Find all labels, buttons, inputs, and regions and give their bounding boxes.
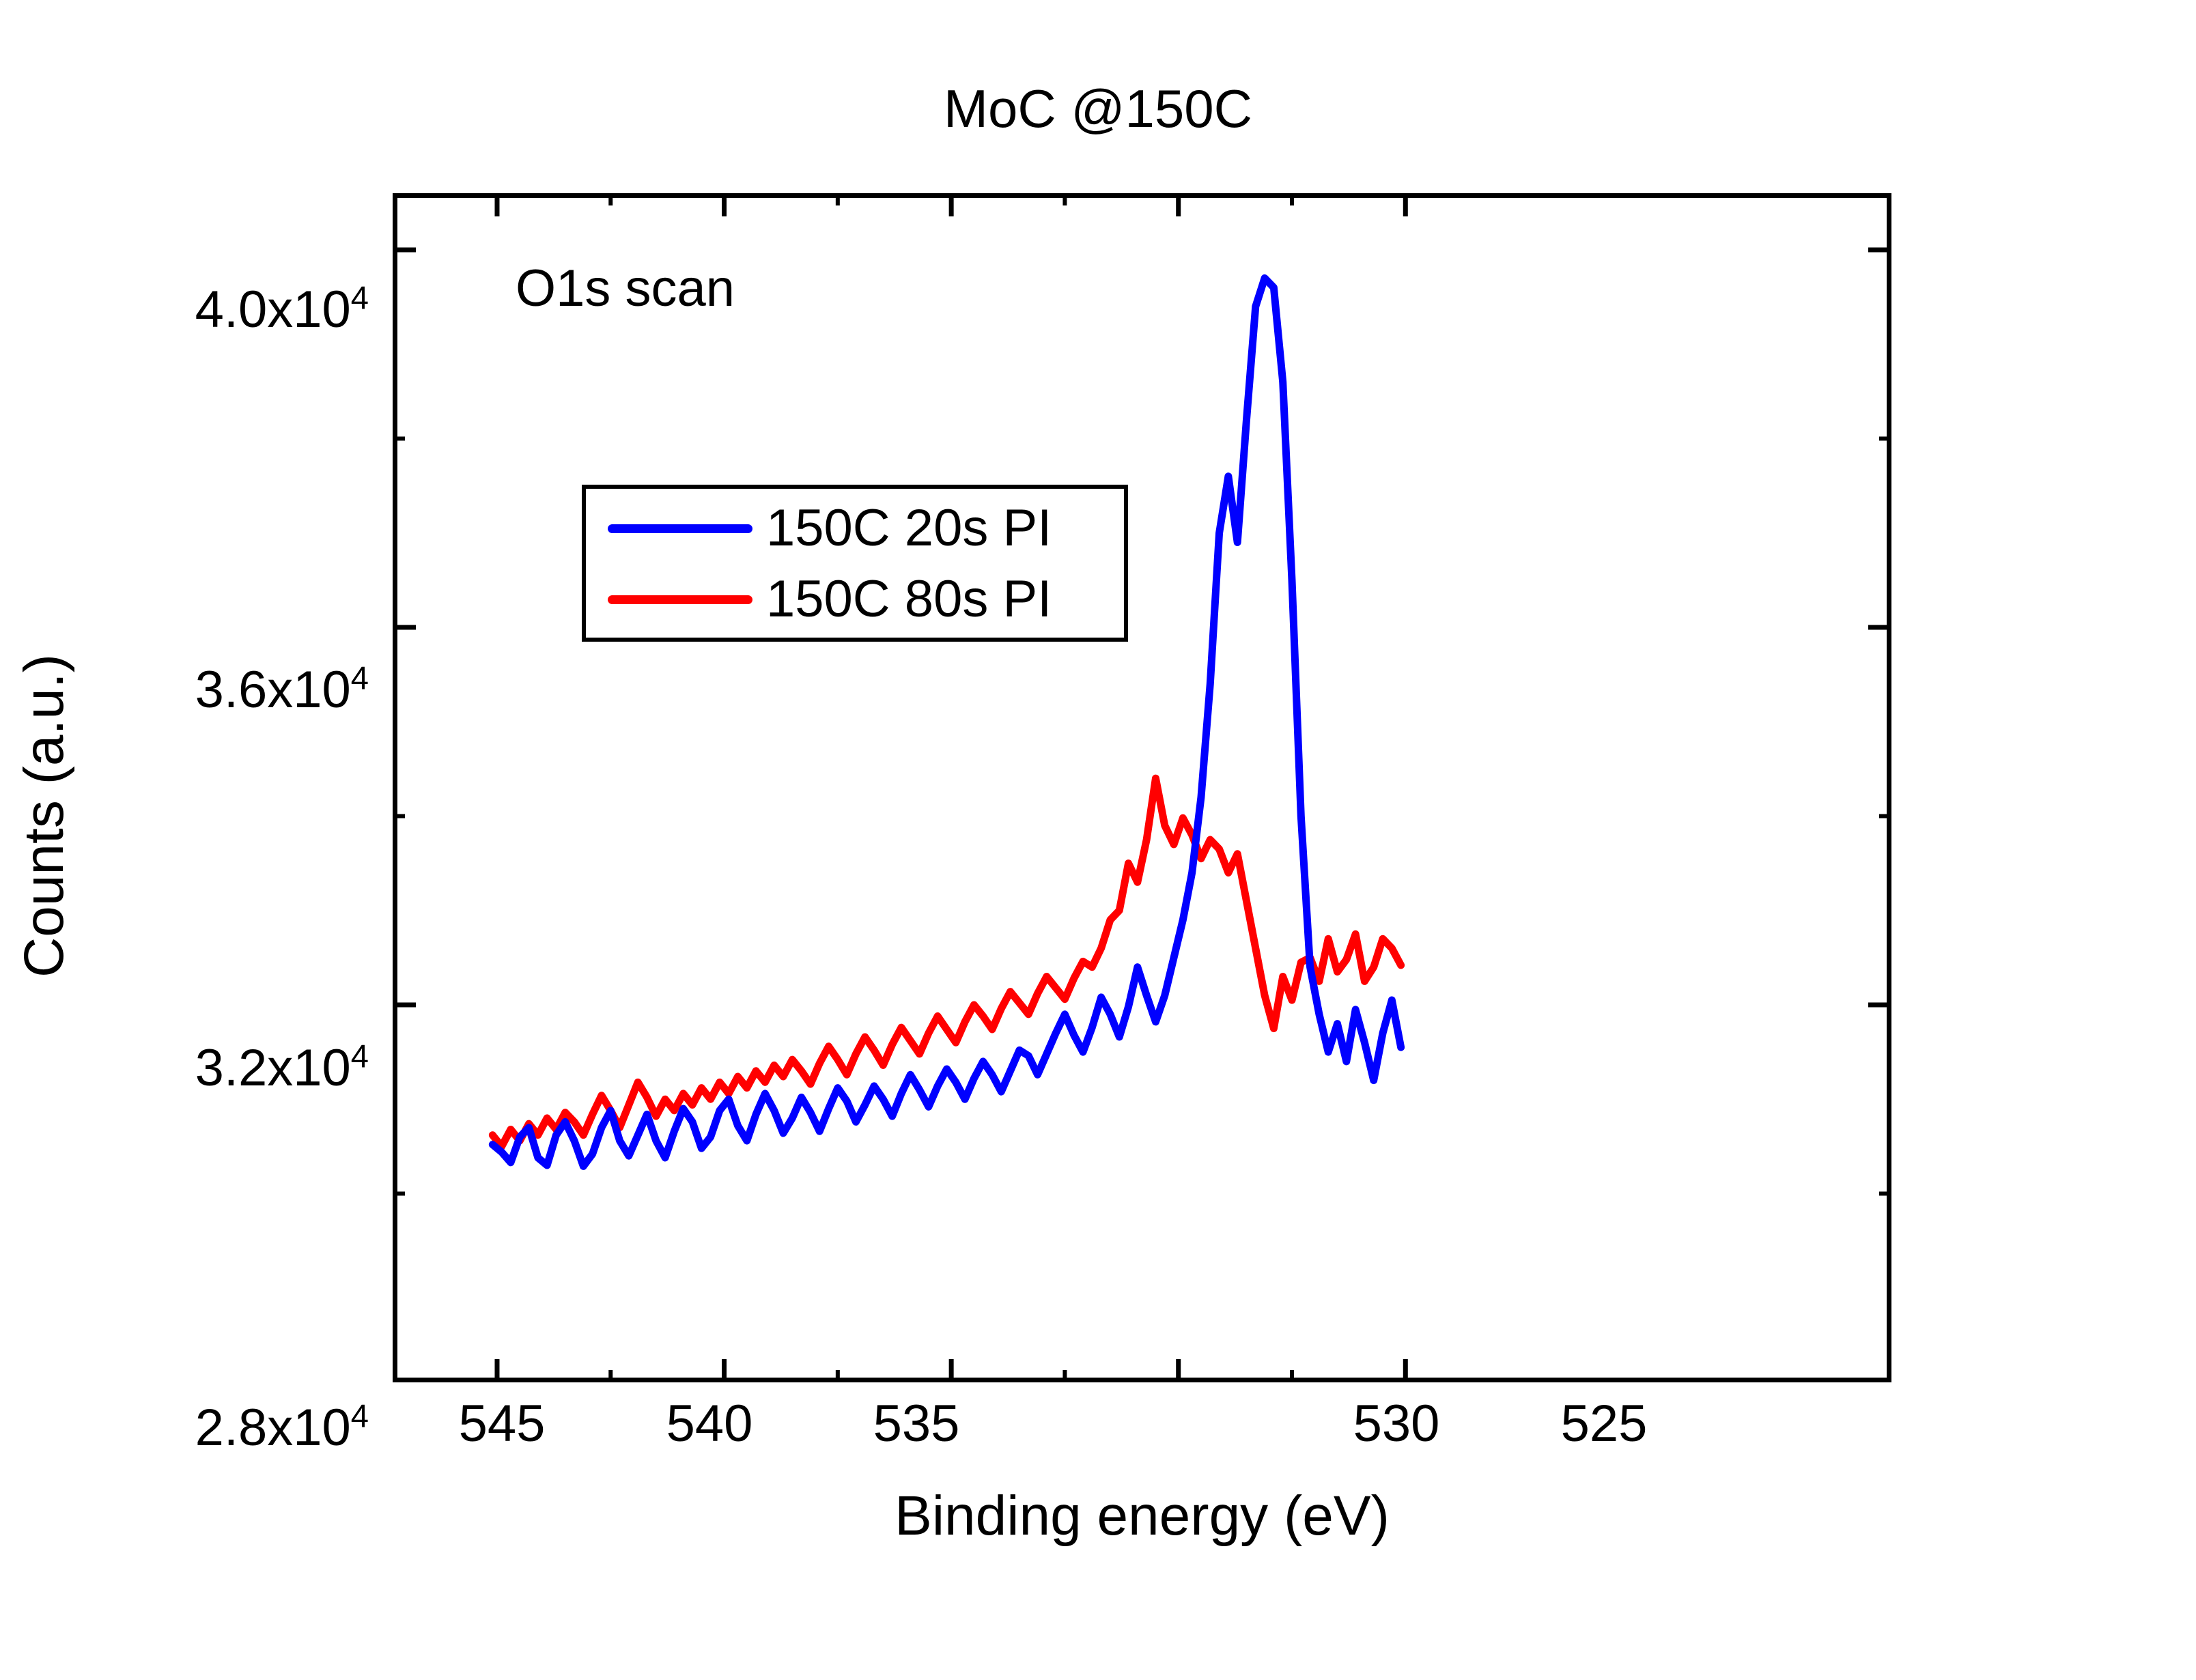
x-axis-tick-label: 540 [607, 1398, 812, 1450]
legend-label: 150C 80s PI [766, 573, 1052, 625]
y-axis-tick-label: 2.8x104 [0, 1350, 369, 1506]
chart-title: MoC @150C [0, 82, 2196, 135]
y-axis-label: Counts (a.u.) [16, 509, 72, 1123]
y-tick-exponent: 4 [351, 660, 369, 696]
y-tick-exponent: 4 [351, 1038, 369, 1074]
legend-swatch-blue [608, 524, 752, 533]
series-line-150c-80s-pi [492, 778, 1400, 1146]
y-tick-mantissa: 3.2x10 [195, 1039, 351, 1097]
x-axis-tick-label: 525 [1502, 1398, 1706, 1450]
x-axis-label: Binding energy (eV) [393, 1488, 1891, 1544]
y-axis-tick-label: 4.0x104 [0, 232, 369, 388]
y-tick-exponent: 4 [351, 1398, 369, 1434]
legend-swatch-red [608, 595, 752, 604]
x-axis-tick-label: 530 [1294, 1398, 1499, 1450]
y-tick-exponent: 4 [351, 280, 369, 316]
y-tick-mantissa: 4.0x10 [195, 281, 351, 339]
x-axis-tick-label: 535 [814, 1398, 1019, 1450]
plot-annotation-o1s: O1s scan [516, 263, 735, 315]
legend-entry[interactable]: 150C 20s PI [586, 494, 1124, 563]
axis-ticks [393, 193, 1891, 1382]
legend-box: 150C 20s PI 150C 80s PI [582, 485, 1128, 642]
chart-figure: MoC @150C 4.0x104 3.6x104 3.2x104 2.8x10… [0, 0, 2196, 1680]
x-axis-tick-label: 545 [399, 1398, 604, 1450]
legend-label: 150C 20s PI [766, 502, 1052, 554]
y-tick-mantissa: 3.6x10 [195, 661, 351, 719]
y-tick-mantissa: 2.8x10 [195, 1399, 351, 1457]
legend-entry[interactable]: 150C 80s PI [586, 565, 1124, 633]
plot-area [393, 193, 1891, 1382]
